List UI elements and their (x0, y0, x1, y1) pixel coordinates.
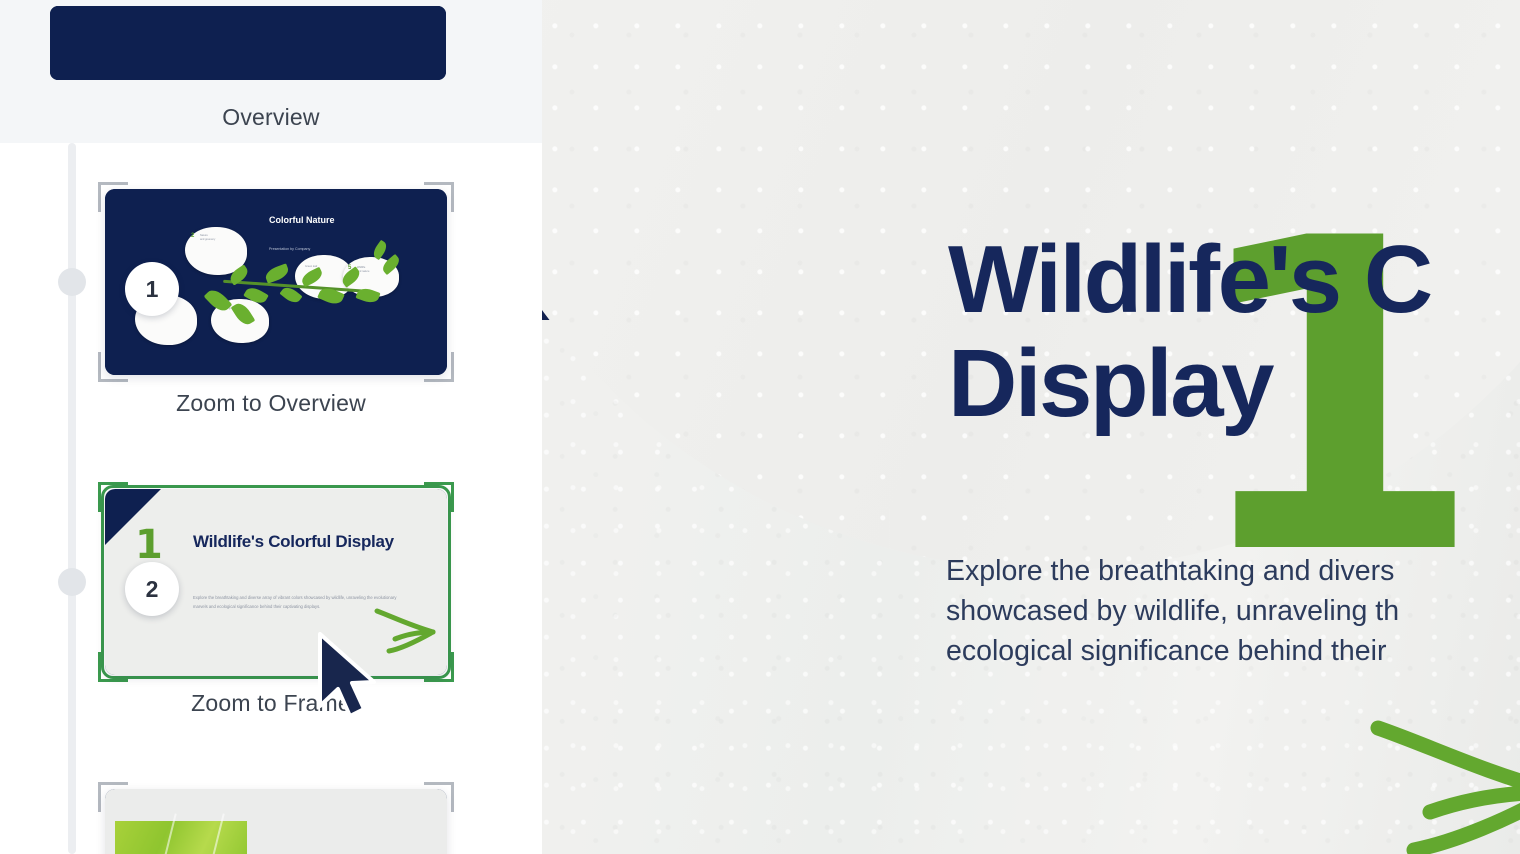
main-slide-canvas[interactable]: 1 Wildlife's C Display Explore the breat… (542, 0, 1520, 854)
mini-slide-title: Wildlife's Colorful Display (193, 532, 423, 551)
mini-blob-text: Natureand greenery (200, 234, 215, 242)
leaf-icon (264, 263, 291, 283)
step-badge-1[interactable]: 1 (125, 262, 179, 316)
mini-slide-subtitle: Presentation by Company (269, 247, 310, 252)
leaf-photo (115, 821, 247, 854)
sidebar-item-third-slide[interactable] (98, 782, 454, 854)
slide-title: Wildlife's C Display (948, 228, 1520, 435)
thumbnail-frame-2[interactable]: 1 Wildlife's Colorful Display Explore th… (98, 482, 454, 682)
mini-slide-numeral: 1 (135, 529, 163, 561)
mini-blob-number: 2 (191, 233, 194, 239)
overview-mini-canvas: Better LivingStart Wild growth (50, 6, 446, 80)
leaf-icon (155, 6, 177, 7)
mini-slide-canvas (105, 789, 447, 854)
slide-navigation-panel: Better LivingStart Wild growth Overview (0, 0, 542, 854)
green-sprig-icon (1360, 700, 1520, 854)
navigation-timeline-track (68, 143, 76, 854)
overview-section[interactable]: Better LivingStart Wild growth Overview (0, 0, 542, 143)
sidebar-item-zoom-to-frame[interactable]: 1 Wildlife's Colorful Display Explore th… (98, 482, 454, 682)
timeline-node-1[interactable] (58, 268, 86, 296)
green-sprig-icon (371, 601, 441, 659)
mouse-pointer-icon (316, 632, 378, 718)
slide-thumbnail-1[interactable]: Colorful Nature Presentation by Company … (105, 189, 447, 375)
overview-label: Overview (0, 104, 542, 131)
sidebar-item-label: Zoom to Overview (0, 390, 542, 417)
overview-slide-thumbnail[interactable]: Better LivingStart Wild growth (50, 6, 446, 80)
timeline-node-2[interactable] (58, 568, 86, 596)
mini-slide-title: Colorful Nature (269, 215, 335, 226)
slide-thumbnail-2[interactable]: 1 Wildlife's Colorful Display Explore th… (105, 489, 447, 675)
slide-body-text: Explore the breathtaking and divers show… (946, 552, 1520, 672)
sidebar-item-label: Zoom to Frame (0, 690, 542, 717)
step-badge-2[interactable]: 2 (125, 562, 179, 616)
thumbnail-frame-3[interactable] (98, 782, 454, 854)
sidebar-item-zoom-to-overview[interactable]: Colorful Nature Presentation by Company … (98, 182, 454, 382)
thumbnail-frame-1[interactable]: Colorful Nature Presentation by Company … (98, 182, 454, 382)
presentation-zoom-navigator: Better LivingStart Wild growth Overview (0, 0, 1520, 854)
mini-slide-body: Explore the breathtaking and diverse arr… (193, 594, 398, 612)
slide-thumbnail-3[interactable] (105, 789, 447, 854)
